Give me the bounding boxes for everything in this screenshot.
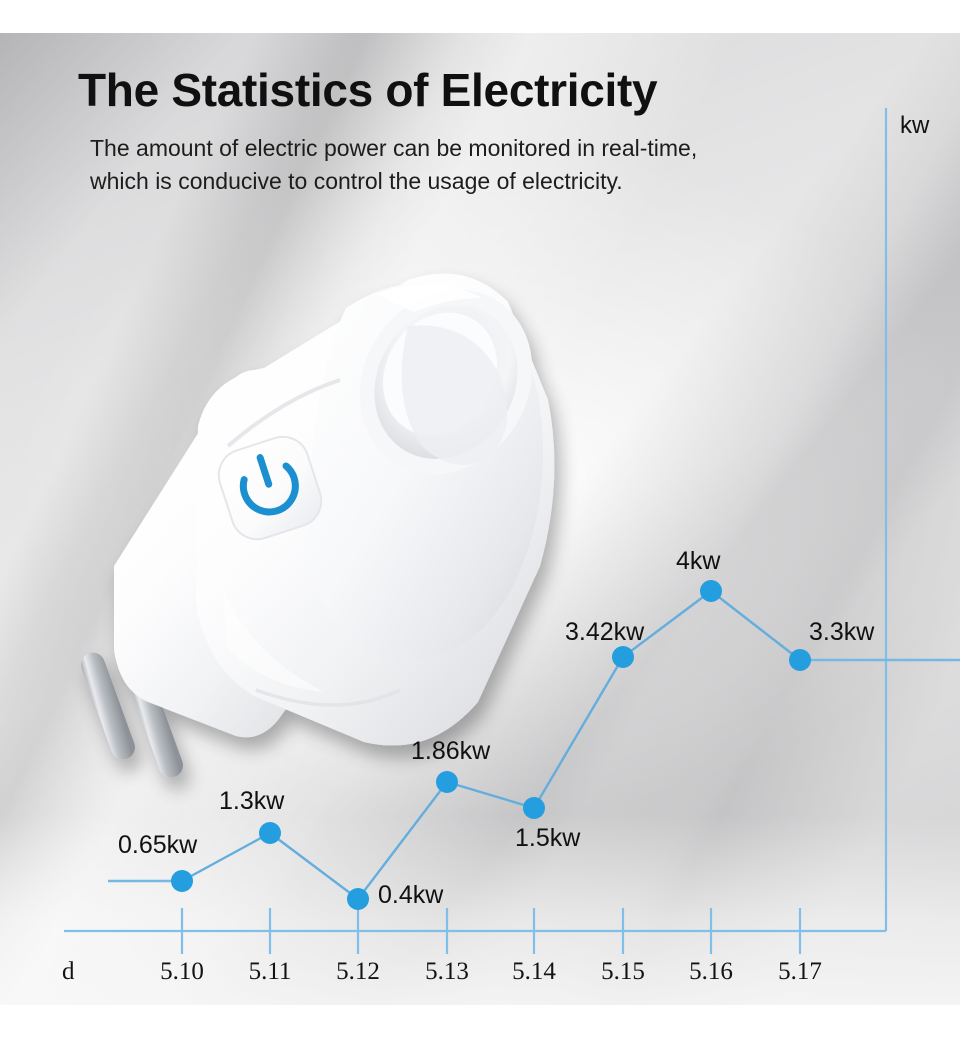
y-axis-unit-label: kw (900, 112, 930, 139)
headline-block: The Statistics of Electricity The amount… (78, 66, 898, 198)
data-label-7: 3.3kw (809, 618, 875, 646)
page-title: The Statistics of Electricity (78, 66, 898, 114)
page-root: The Statistics of Electricity The amount… (0, 0, 960, 1062)
x-axis-label-2: 5.12 (336, 958, 380, 985)
data-label-4: 1.5kw (515, 824, 581, 852)
data-label-2: 0.4kw (378, 881, 444, 909)
subtitle-line-2: which is conducive to control the usage … (90, 165, 898, 198)
data-label-6: 4kw (676, 547, 721, 575)
data-point-6 (700, 580, 722, 602)
data-label-0: 0.65kw (118, 831, 198, 859)
x-axis-label-0: 5.10 (160, 958, 204, 985)
x-axis-label-3: 5.13 (425, 958, 469, 985)
data-point-5 (612, 646, 634, 668)
x-axis-label-5: 5.15 (601, 958, 645, 985)
data-point-markers (171, 580, 811, 910)
data-point-2 (347, 888, 369, 910)
x-axis-label-6: 5.16 (689, 958, 733, 985)
subtitle-line-1: The amount of electric power can be moni… (90, 132, 898, 165)
power-series-line (182, 591, 800, 899)
data-point-4 (523, 797, 545, 819)
page-subtitle: The amount of electric power can be moni… (90, 132, 898, 197)
data-point-3 (436, 771, 458, 793)
data-label-3: 1.86kw (411, 737, 491, 765)
data-point-7 (789, 649, 811, 671)
x-axis-label-1: 5.11 (249, 958, 292, 985)
data-point-0 (171, 870, 193, 892)
x-axis-label-4: 5.14 (512, 958, 556, 985)
x-axis-unit-label: d (62, 958, 75, 985)
data-point-1 (259, 822, 281, 844)
data-label-1: 1.3kw (219, 787, 285, 815)
x-axis-label-7: 5.17 (778, 958, 822, 985)
data-label-5: 3.42kw (565, 618, 645, 646)
